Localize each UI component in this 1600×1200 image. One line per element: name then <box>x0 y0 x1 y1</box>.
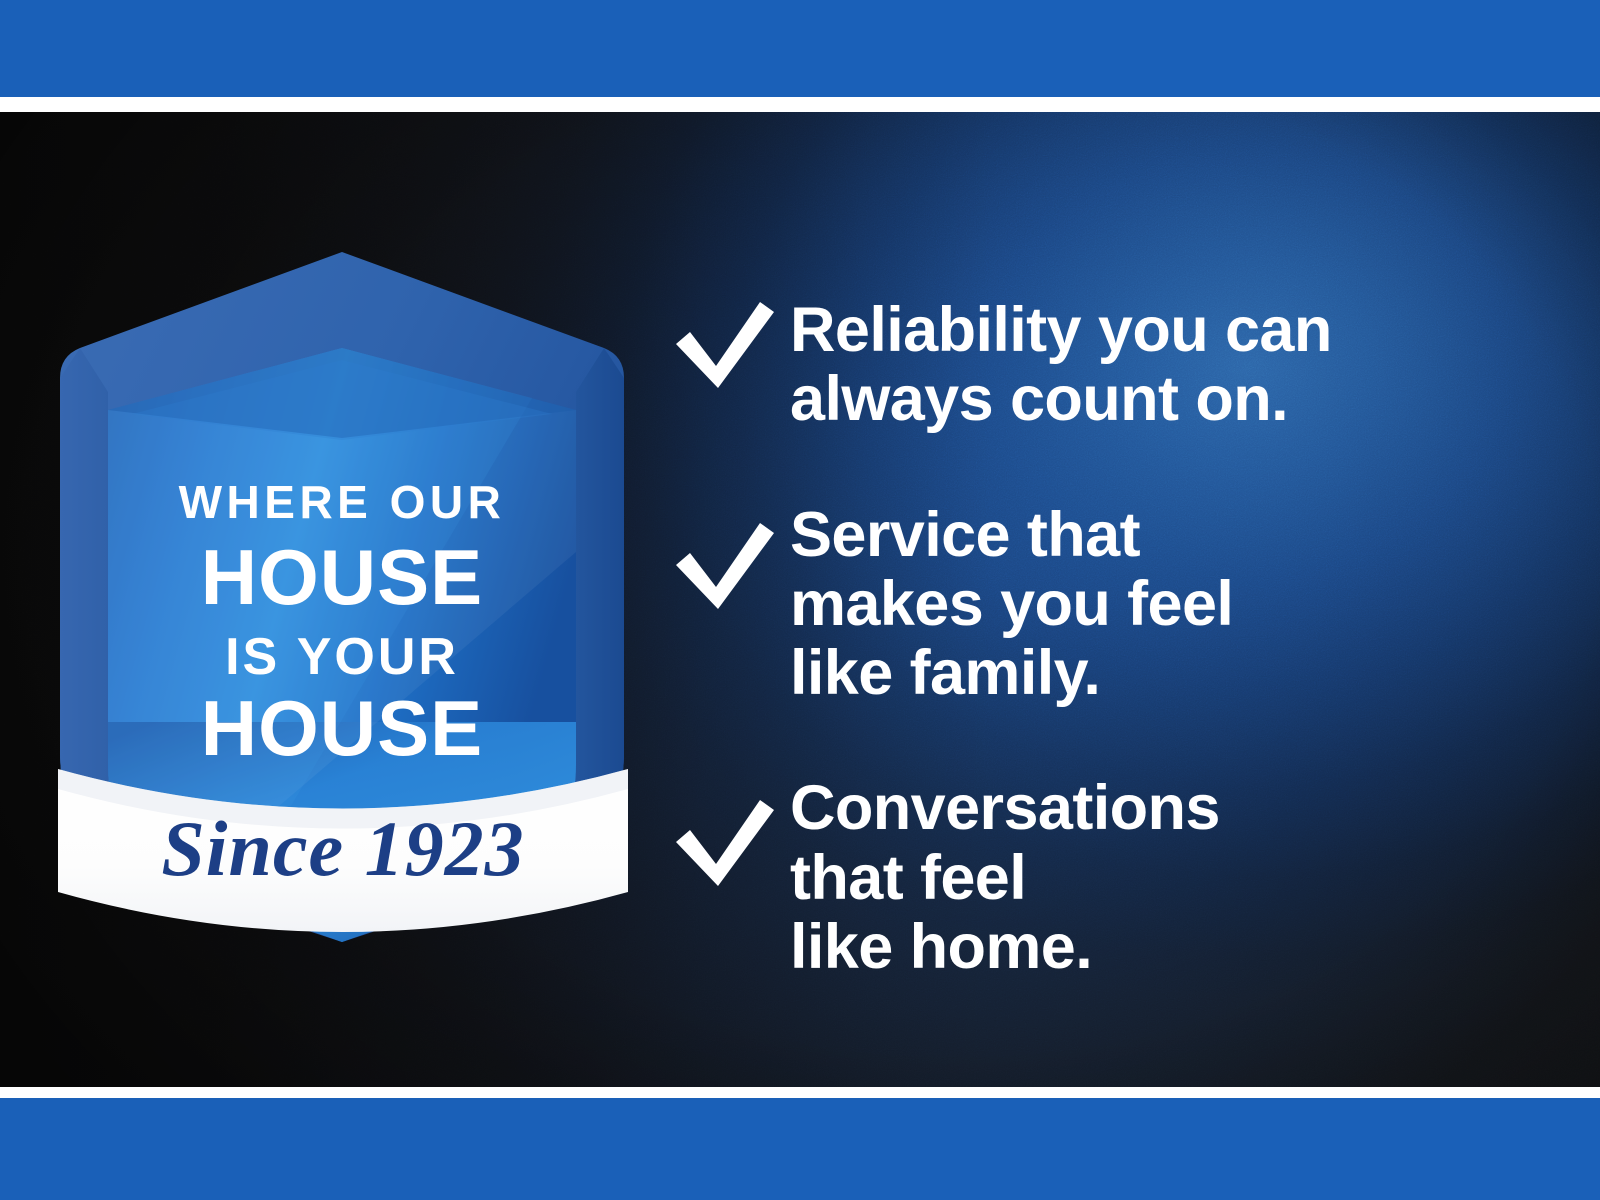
badge-ribbon-text: Since 1923 <box>161 805 524 892</box>
badge-line-4: HOUSE <box>201 684 483 772</box>
benefits-list: Reliability you can always count on. Ser… <box>672 292 1552 982</box>
badge-line-3: IS YOUR <box>225 628 459 686</box>
list-item: Reliability you can always count on. <box>672 292 1552 435</box>
top-brand-bar <box>0 0 1600 97</box>
checkmark-icon <box>672 501 790 613</box>
list-item-text: Conversations that feel like home. <box>790 774 1220 982</box>
list-item-text: Service that makes you feel like family. <box>790 501 1233 709</box>
list-item: Conversations that feel like home. <box>672 774 1552 982</box>
checkmark-icon <box>672 774 790 890</box>
since-1923-shield-badge: WHERE OUR HOUSE IS YOUR HOUSE Since 1923 <box>52 252 632 942</box>
badge-line-2: HOUSE <box>201 533 483 621</box>
checkmark-icon <box>672 292 790 392</box>
badge-line-1: WHERE OUR <box>179 476 506 528</box>
list-item: Service that makes you feel like family. <box>672 501 1552 709</box>
promotional-poster: WHERE OUR HOUSE IS YOUR HOUSE Since 1923 <box>0 0 1600 1200</box>
main-stage: WHERE OUR HOUSE IS YOUR HOUSE Since 1923 <box>0 112 1600 1087</box>
bottom-brand-bar <box>0 1098 1600 1200</box>
list-item-text: Reliability you can always count on. <box>790 292 1332 435</box>
